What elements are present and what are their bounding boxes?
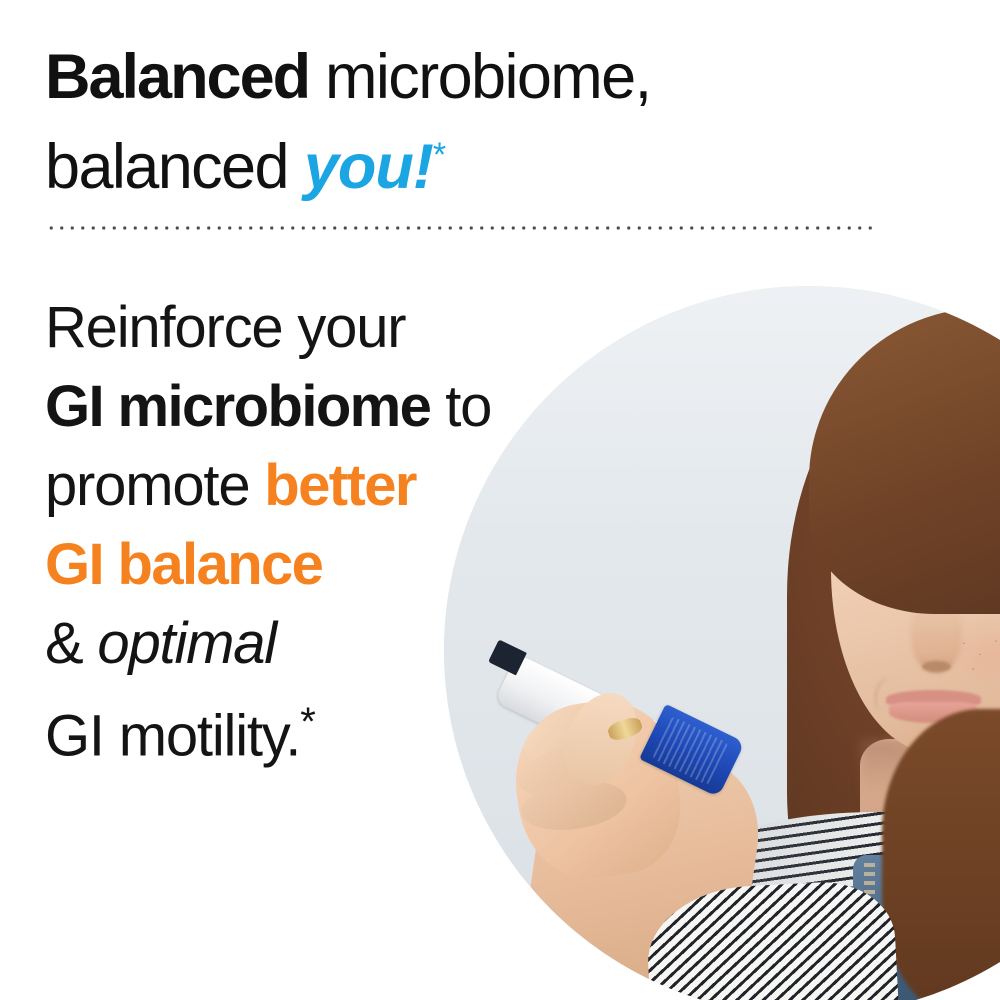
background-folder [679, 286, 816, 298]
body-line-1: Reinforce your [45, 288, 605, 367]
body-asterisk: * [300, 700, 316, 744]
body-line1-text: Reinforce your [45, 295, 405, 360]
headline-line-1: Balanced microbiome, [45, 38, 945, 116]
body-line6-text: GI motility. [45, 703, 300, 768]
headline-line-2: balanced you!* [45, 116, 945, 206]
body-line2-rest: to [445, 374, 491, 439]
headline-line1-rest: microbiome, [325, 42, 651, 112]
body-orange-phrase-gi-balance: GI balance [45, 532, 322, 597]
dotted-divider [46, 226, 876, 230]
promo-banner: Balanced microbiome, balanced you!* Rein… [0, 0, 1000, 1000]
body-bold-phrase: GI microbiome [45, 374, 430, 439]
body-line-6: GI motility.* [45, 683, 605, 775]
body-line-5: & optimal [45, 604, 605, 683]
body-line-4: GI balance [45, 525, 605, 604]
subject-hair-top [809, 308, 1000, 615]
headline-asterisk: * [433, 136, 446, 174]
headline-line2-rest: balanced [45, 132, 288, 202]
background-folder-paper [766, 286, 831, 292]
body-ampersand: & [45, 611, 83, 676]
body-italic-word-optimal: optimal [97, 611, 276, 676]
body-orange-word-better: better [264, 453, 416, 518]
headline: Balanced microbiome, balanced you!* [45, 38, 945, 206]
body-line-3: promote better [45, 446, 605, 525]
background-folder-edge [722, 286, 823, 294]
headline-bold-word: Balanced [45, 42, 309, 112]
body-line-2: GI microbiome to [45, 367, 605, 446]
headline-accent-word: you! [304, 132, 433, 202]
body-copy: Reinforce your GI microbiome to promote … [45, 288, 605, 775]
body-line3-rest: promote [45, 453, 249, 518]
